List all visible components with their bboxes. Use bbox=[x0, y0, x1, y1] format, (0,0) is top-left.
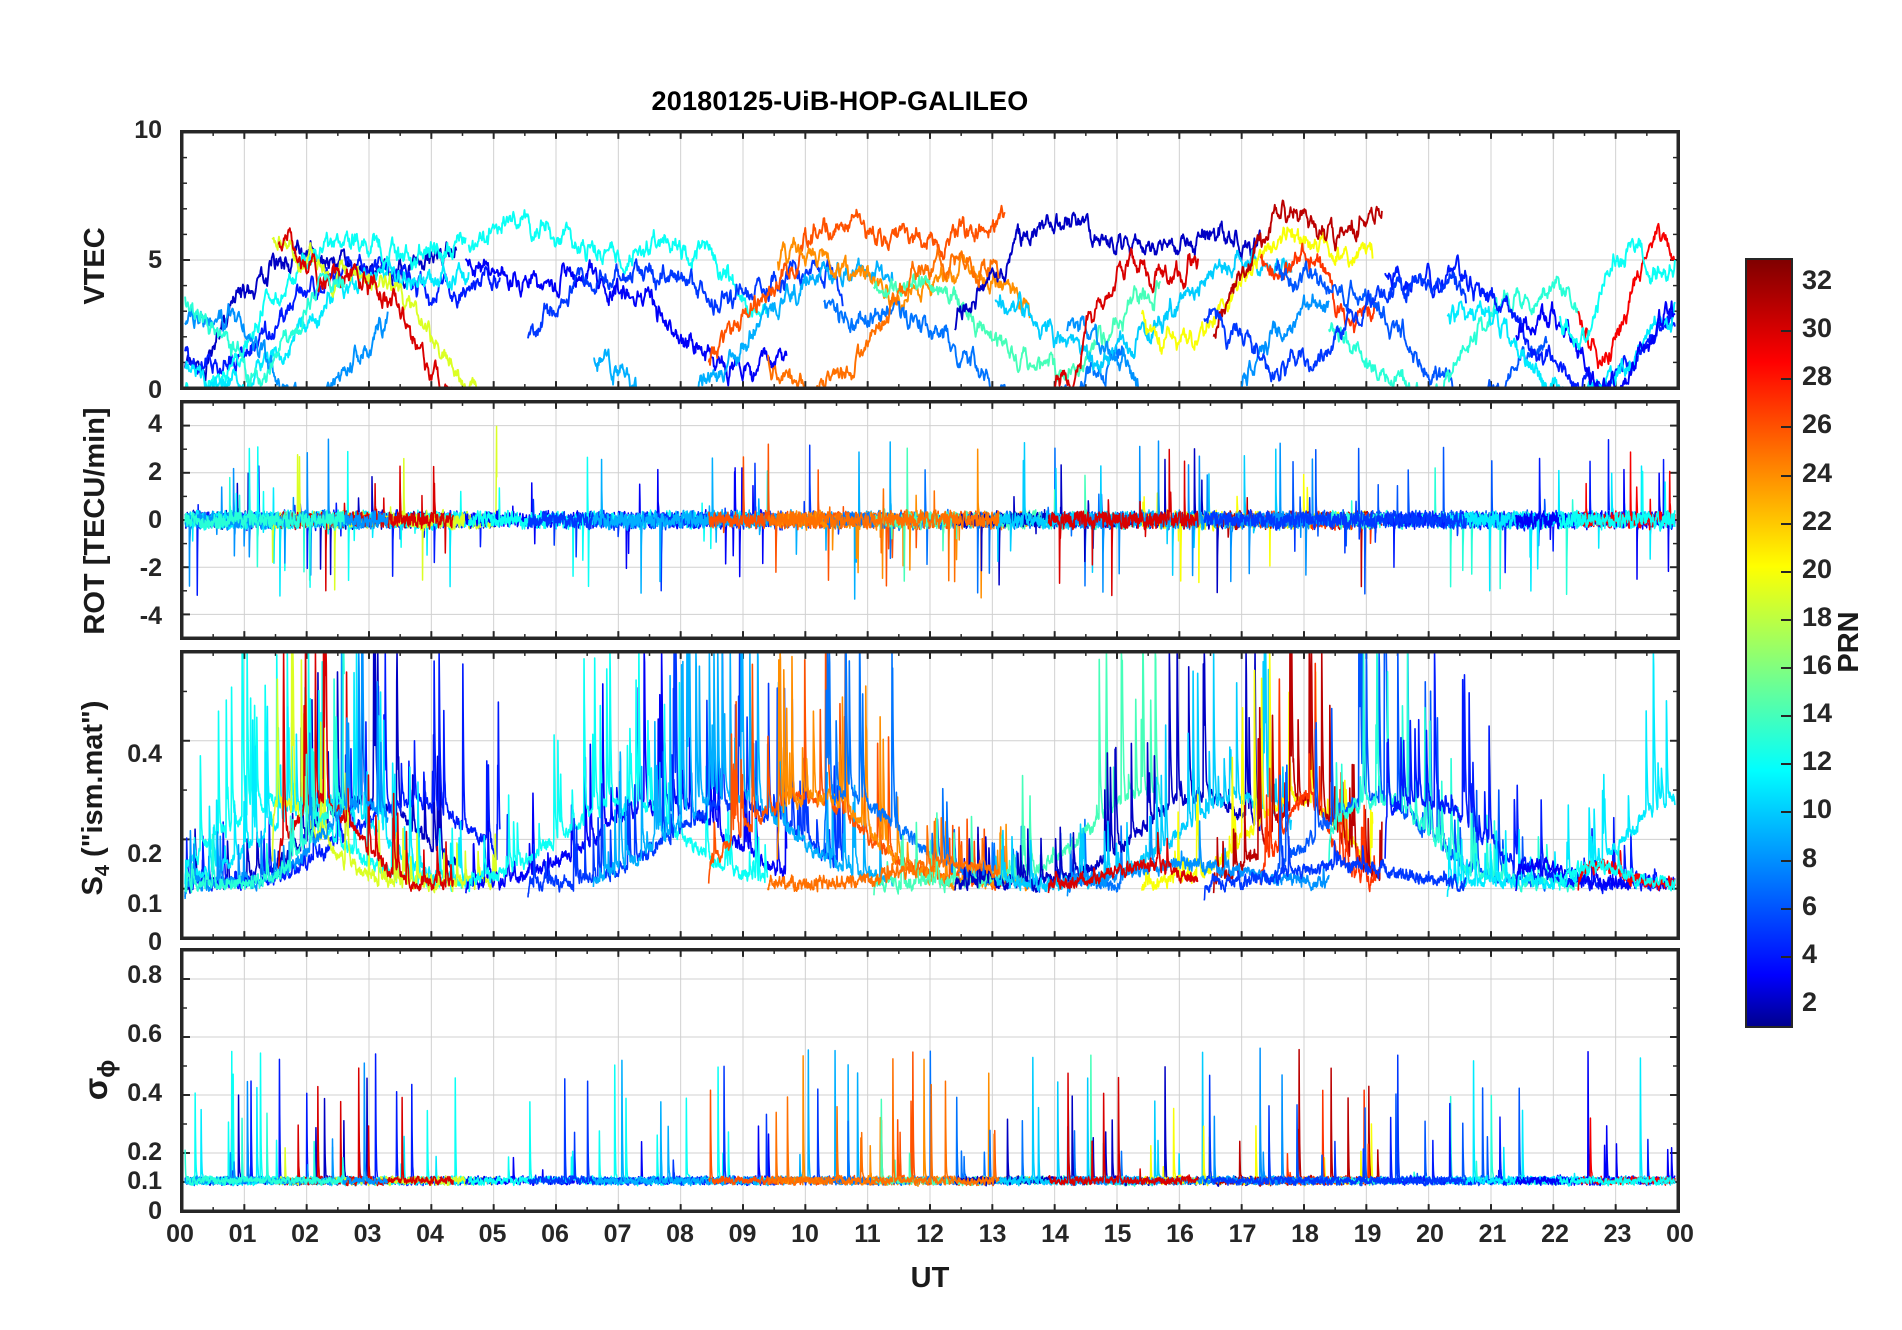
colorbar bbox=[1745, 258, 1793, 1028]
colorbar-tick-24: 24 bbox=[1802, 460, 1832, 487]
vtec-ytick-10: 10 bbox=[100, 118, 162, 143]
colorbar-tick-12: 12 bbox=[1802, 748, 1832, 775]
colorbar-tickmark bbox=[1781, 956, 1793, 958]
colorbar-tick-8: 8 bbox=[1802, 845, 1817, 872]
x-axis-label: UT bbox=[180, 1262, 1680, 1295]
rot-axis-label: ROT [TECU/min] bbox=[79, 371, 111, 671]
sigma-ytick-0: 0 bbox=[78, 1199, 162, 1224]
colorbar-label: PRN bbox=[1833, 582, 1867, 702]
sigmaphi-axis-label: σϕ bbox=[77, 1020, 113, 1140]
colorbar-gradient bbox=[1747, 260, 1791, 1026]
colorbar-tickmark bbox=[1781, 667, 1793, 669]
colorbar-tickmark bbox=[1781, 378, 1793, 380]
colorbar-tick-2: 2 bbox=[1802, 989, 1817, 1016]
vtec-plot-area bbox=[182, 132, 1678, 388]
colorbar-tick-30: 30 bbox=[1802, 315, 1832, 342]
colorbar-tickmark bbox=[1781, 860, 1793, 862]
colorbar-tick-22: 22 bbox=[1802, 508, 1832, 535]
colorbar-tick-14: 14 bbox=[1802, 700, 1832, 727]
colorbar-tickmark bbox=[1781, 763, 1793, 765]
colorbar-tick-20: 20 bbox=[1802, 556, 1832, 583]
sigma-ytick-01: 0.1 bbox=[78, 1169, 162, 1194]
colorbar-tickmark bbox=[1781, 619, 1793, 621]
colorbar-tickmark bbox=[1781, 571, 1793, 573]
colorbar-tick-4: 4 bbox=[1802, 941, 1817, 968]
colorbar-tick-10: 10 bbox=[1802, 796, 1832, 823]
panel-rot bbox=[180, 400, 1680, 640]
colorbar-tick-32: 32 bbox=[1802, 267, 1832, 294]
sigma-ytick-08: 0.8 bbox=[78, 963, 162, 988]
sigma-ytick-02: 0.2 bbox=[78, 1140, 162, 1165]
sigmaphi-plot-area bbox=[182, 950, 1678, 1211]
x-tick-24: 00 bbox=[1640, 1222, 1720, 1247]
figure-root: 20180125-UiB-HOP-GALILEO 10 5 0 VTEC 4 2… bbox=[0, 0, 1902, 1330]
colorbar-tick-26: 26 bbox=[1802, 411, 1832, 438]
s4-axis-label-main: S bbox=[77, 876, 109, 895]
vtec-axis-label: VTEC bbox=[79, 166, 111, 366]
panel-vtec bbox=[180, 130, 1680, 390]
panel-sigmaphi bbox=[180, 948, 1680, 1213]
colorbar-tick-16: 16 bbox=[1802, 652, 1832, 679]
colorbar-tickmark bbox=[1781, 908, 1793, 910]
sigma-axis-label-main: σ bbox=[77, 1078, 114, 1101]
figure-title: 20180125-UiB-HOP-GALILEO bbox=[0, 86, 1680, 117]
colorbar-tickmark bbox=[1781, 330, 1793, 332]
colorbar-tickmark bbox=[1781, 523, 1793, 525]
colorbar-tickmark bbox=[1781, 475, 1793, 477]
panel-s4 bbox=[180, 650, 1680, 940]
colorbar-tick-6: 6 bbox=[1802, 893, 1817, 920]
colorbar-tickmark bbox=[1781, 715, 1793, 717]
s4-plot-area bbox=[182, 652, 1678, 938]
colorbar-tickmark bbox=[1781, 426, 1793, 428]
colorbar-tickmark bbox=[1781, 811, 1793, 813]
rot-plot-area bbox=[182, 402, 1678, 638]
s4-axis-label: S4 ("ism.mat") bbox=[77, 628, 113, 968]
sigma-axis-label-sub: ϕ bbox=[94, 1060, 121, 1078]
colorbar-tick-28: 28 bbox=[1802, 363, 1832, 390]
s4-axis-label-sub: 4 bbox=[92, 865, 114, 876]
colorbar-tick-18: 18 bbox=[1802, 604, 1832, 631]
s4-axis-label-rest: ("ism.mat") bbox=[77, 701, 109, 865]
